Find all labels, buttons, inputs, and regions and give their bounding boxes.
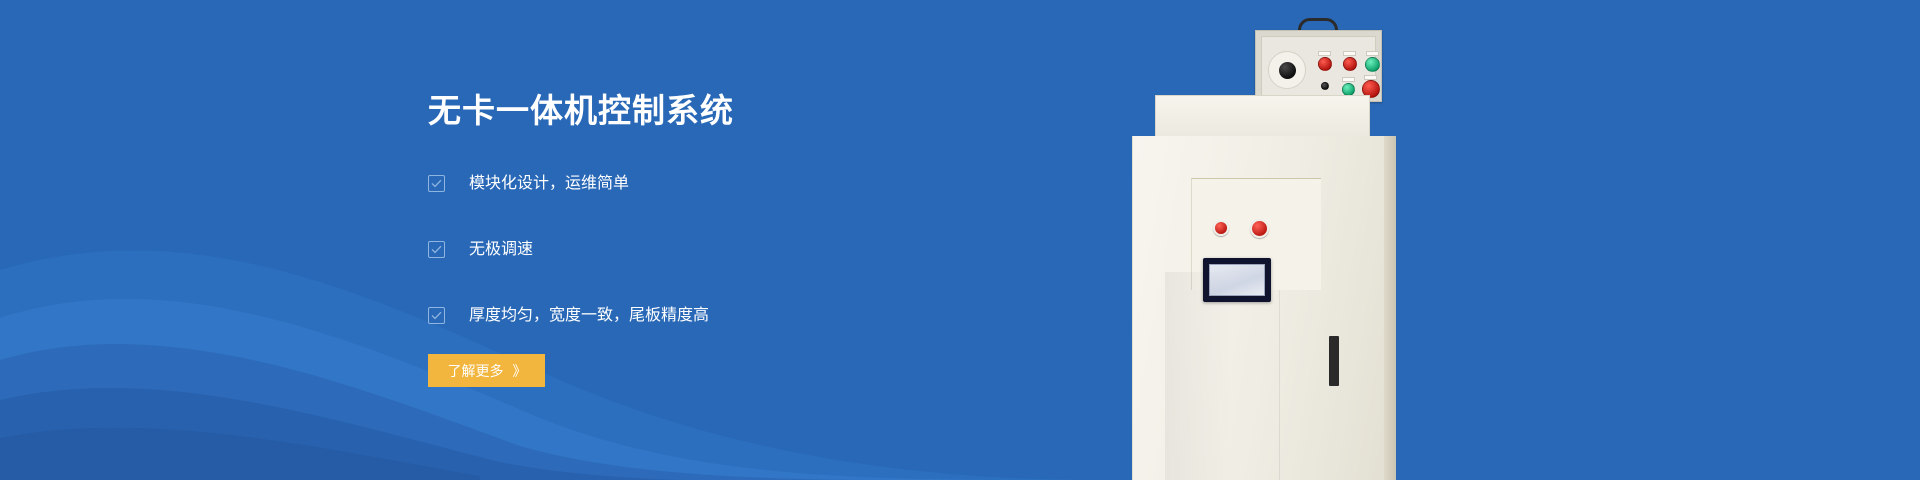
main-cabinet: [1132, 136, 1396, 480]
rotary-selector-knob[interactable]: [1268, 51, 1306, 89]
list-item-label: 厚度均匀，宽度一致，尾板精度高: [469, 299, 709, 332]
page-title: 无卡一体机控制系统: [428, 88, 908, 134]
list-item: 无极调速: [428, 233, 908, 266]
button-label-red-2: [1343, 51, 1356, 56]
list-spacer: [428, 266, 908, 299]
button-black-1[interactable]: [1321, 82, 1329, 90]
list-item-label: 无极调速: [469, 233, 533, 266]
cabinet-top-cap: [1155, 95, 1370, 137]
control-panel-face: [1261, 36, 1376, 96]
checkbox-checked-icon: [428, 241, 445, 258]
control-cabinet-photo: [1100, 0, 1660, 480]
cabinet-vent-slot: [1329, 336, 1339, 386]
checkbox-checked-icon: [428, 175, 445, 192]
banner-content: 无卡一体机控制系统 模块化设计，运维简单 无极调速: [428, 88, 908, 387]
touchscreen-glass: [1209, 264, 1265, 296]
learn-more-label: 了解更多: [448, 361, 504, 381]
top-control-panel: [1255, 30, 1382, 102]
feature-list: 模块化设计，运维简单 无极调速 厚度均匀，宽度一致，尾板精度高: [428, 167, 908, 332]
list-item-label: 模块化设计，运维简单: [469, 167, 629, 200]
checkbox-checked-icon: [428, 307, 445, 324]
touchscreen-display[interactable]: [1203, 258, 1271, 302]
button-green-1[interactable]: [1365, 57, 1380, 72]
list-spacer: [428, 200, 908, 233]
indicator-red-right[interactable]: [1250, 219, 1269, 238]
button-red-1[interactable]: [1318, 57, 1332, 71]
button-red-2[interactable]: [1343, 57, 1357, 71]
knob-center: [1279, 62, 1296, 79]
list-item: 模块化设计，运维简单: [428, 167, 908, 200]
list-item: 厚度均匀，宽度一致，尾板精度高: [428, 299, 908, 332]
button-label-green-2: [1342, 77, 1355, 82]
button-label-green-1: [1366, 51, 1379, 56]
cabinet-right-edge: [1384, 136, 1396, 480]
learn-more-button[interactable]: 了解更多 》: [428, 354, 545, 387]
button-label-red-1: [1318, 51, 1331, 56]
hero-banner: 无卡一体机控制系统 模块化设计，运维简单 无极调速: [0, 0, 1920, 480]
chevron-right-icon: 》: [513, 364, 526, 378]
indicator-red-left[interactable]: [1213, 220, 1229, 236]
